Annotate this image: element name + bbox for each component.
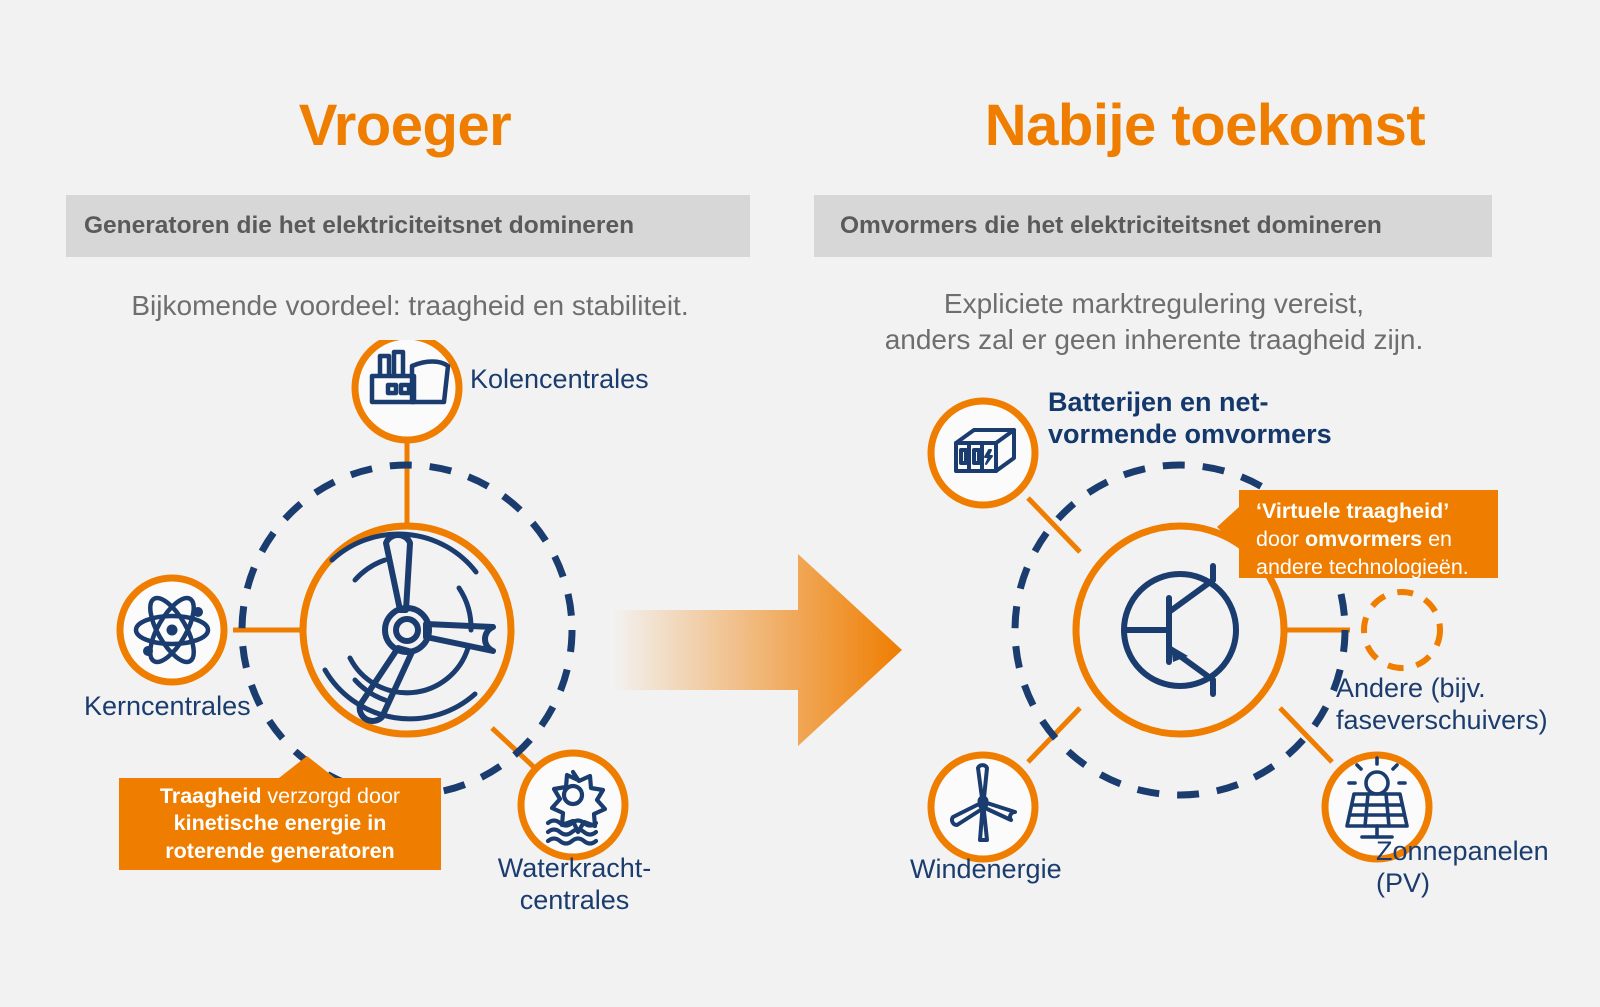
label-other: Andere (bijv. faseverschuivers) bbox=[1336, 673, 1548, 736]
callout-left-l1-rest: verzorgd door bbox=[261, 784, 400, 808]
band-right: Omvormers die het elektriciteitsnet domi… bbox=[814, 195, 1492, 257]
band-right-text: Omvormers die het elektriciteitsnet domi… bbox=[814, 212, 1382, 240]
band-left-text: Generatoren die het elektriciteitsnet do… bbox=[66, 212, 634, 240]
callout-right-l2-bold: omvormers bbox=[1305, 527, 1422, 551]
callout-right-pointer bbox=[1217, 507, 1239, 547]
callout-left-l3: roterende generatoren bbox=[165, 839, 394, 863]
panel-title-left: Vroeger bbox=[0, 92, 810, 159]
band-left: Generatoren die het elektriciteitsnet do… bbox=[66, 195, 750, 257]
label-coal: Kolencentrales bbox=[470, 364, 649, 396]
label-hydro: Waterkracht- centrales bbox=[487, 853, 662, 916]
panel-title-right: Nabije toekomst bbox=[810, 92, 1600, 159]
label-solar: Zonnepanelen (PV) bbox=[1376, 836, 1549, 899]
callout-left-l1-bold: Traagheid bbox=[160, 784, 262, 808]
infographic-canvas: Vroeger Nabije toekomst Generatoren die … bbox=[0, 0, 1600, 1007]
callout-left-pointer bbox=[279, 756, 335, 778]
caption-left: Bijkomende voordeel: traagheid en stabil… bbox=[40, 288, 780, 324]
callout-right-l1: ‘Virtuele traagheid’ bbox=[1256, 499, 1449, 523]
callout-inertia: Traagheid verzorgd door kinetische energ… bbox=[119, 778, 441, 870]
label-wind: Windenergie bbox=[910, 854, 1062, 886]
callout-right-l3: andere technologieën. bbox=[1256, 555, 1469, 579]
label-nuclear: Kerncentrales bbox=[84, 691, 251, 723]
callout-right-l2-pre: door bbox=[1256, 527, 1305, 551]
label-battery: Batterijen en net- vormende omvormers bbox=[1048, 386, 1332, 451]
callout-left-l2: kinetische energie in bbox=[174, 811, 387, 835]
callout-right-l2-post: en bbox=[1422, 527, 1452, 551]
callout-virtual-inertia: ‘Virtuele traagheid’ door omvormers en a… bbox=[1239, 490, 1498, 578]
dashed-empty-circle-icon[interactable] bbox=[1364, 592, 1440, 668]
